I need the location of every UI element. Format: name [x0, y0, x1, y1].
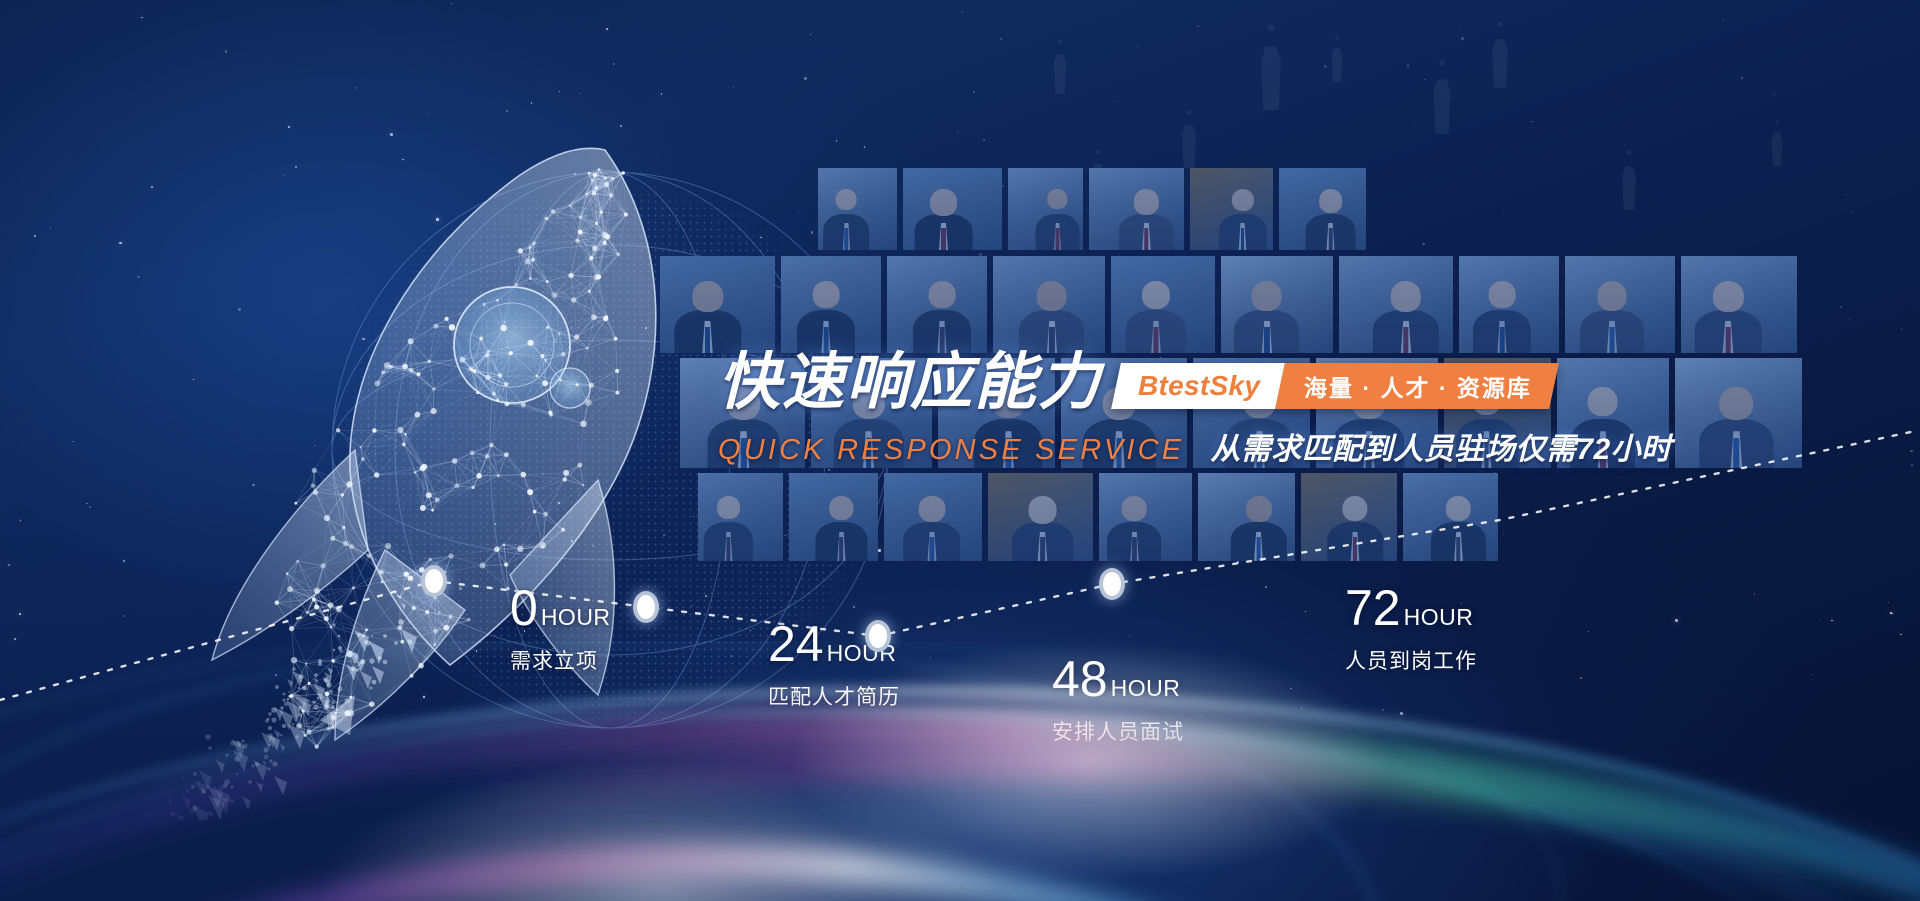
- photo-grid-row: [660, 256, 1797, 353]
- ghost-person-icon: [1180, 110, 1198, 168]
- person-photo: [1565, 256, 1675, 353]
- milestone-value: 0: [510, 583, 538, 633]
- brand-badge-tagline: 海量 · 人才 · 资源库: [1275, 363, 1559, 409]
- page-title: 快速响应能力: [718, 352, 1102, 414]
- brand-badge-name: BtestSky: [1111, 363, 1285, 409]
- timeline-dot[interactable]: [421, 565, 447, 597]
- brand-badge-name-label: BtestSky: [1138, 370, 1260, 402]
- person-photo: [993, 256, 1105, 353]
- person-photo: [1681, 256, 1797, 353]
- person-photo: [884, 473, 982, 561]
- person-photo: [1339, 256, 1453, 353]
- person-photo: [698, 473, 783, 561]
- photo-grid-row: [818, 168, 1366, 250]
- person-photo: [789, 473, 878, 561]
- person-photo: [781, 256, 881, 353]
- person-photo: [1301, 473, 1397, 561]
- person-photo: [1459, 256, 1559, 353]
- timeline-dot[interactable]: [1099, 568, 1125, 600]
- aurora-light-arcs: [0, 641, 1920, 901]
- person-photo: [1198, 473, 1295, 561]
- person-photo: [1099, 473, 1192, 561]
- person-photo: [988, 473, 1093, 561]
- person-photo: [1221, 256, 1333, 353]
- person-photo: [887, 256, 987, 353]
- photo-grid-row: [698, 473, 1498, 561]
- subtitle-chinese: 从需求匹配到人员驻场仅需72小时: [1210, 424, 1671, 468]
- person-photo: [1403, 473, 1498, 561]
- person-photo: [1279, 168, 1366, 250]
- person-photo: [1111, 256, 1215, 353]
- brand-badge-tagline-label: 海量 · 人才 · 资源库: [1304, 369, 1532, 403]
- ghost-person-icon: [1052, 40, 1068, 94]
- person-photo: [903, 168, 1002, 250]
- milestone-unit: HOUR: [1404, 604, 1474, 631]
- ghost-person-icon: [1770, 120, 1784, 166]
- person-photo: [1089, 168, 1184, 250]
- ghost-person-icon: [1431, 60, 1453, 134]
- person-photo: [1190, 168, 1273, 250]
- ghost-person-icon: [1258, 24, 1284, 110]
- timeline-dot[interactable]: [633, 591, 659, 623]
- banner-text-block: 快速响应能力 BtestSky 海量 · 人才 · 资源库 QUICK RESP…: [718, 352, 1538, 482]
- milestone-unit: HOUR: [541, 604, 611, 631]
- ghost-person-icon: [1330, 36, 1344, 82]
- person-photo: [660, 256, 775, 353]
- milestone-value: 72: [1345, 583, 1401, 633]
- person-photo: [1008, 168, 1083, 250]
- hero-banner: 快速响应能力 BtestSky 海量 · 人才 · 资源库 QUICK RESP…: [0, 0, 1920, 901]
- person-photo: [1675, 358, 1802, 468]
- person-photo: [818, 168, 897, 250]
- subtitle-english: QUICK RESPONSE SERVICE: [718, 434, 1184, 467]
- ghost-person-icon: [1490, 22, 1510, 88]
- brand-badge: BtestSky 海量 · 人才 · 资源库: [1111, 363, 1559, 409]
